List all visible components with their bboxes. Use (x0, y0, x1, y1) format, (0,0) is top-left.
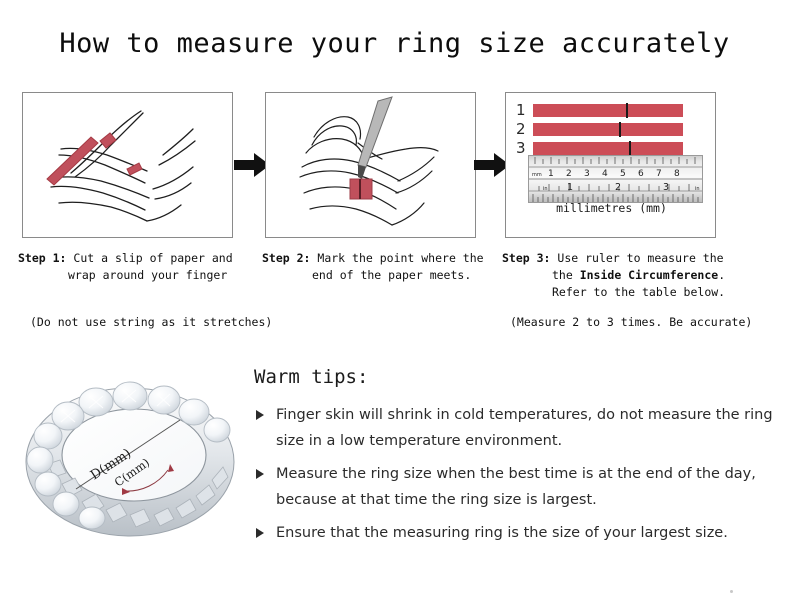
triangle-bullet-icon (256, 410, 264, 420)
step-3-label: Step 3: (502, 251, 550, 265)
step-2-illustration-box (265, 92, 476, 238)
warm-tip-item: Ensure that the measuring ring is the si… (254, 520, 774, 546)
svg-text:8: 8 (674, 169, 680, 179)
strip-number: 2 (516, 120, 531, 138)
step-2-line2: end of the paper meets. (262, 267, 502, 284)
warm-tip-text: Measure the ring size when the best time… (276, 466, 756, 508)
measured-strip-row: 1 (516, 101, 683, 119)
step-1-line2: wrap around your finger (18, 267, 258, 284)
ruler-unit-label: millimetres (mm) (506, 201, 716, 215)
step-1-label: Step 1: (18, 251, 66, 265)
paper-strip-marked (350, 179, 372, 199)
svg-text:6: 6 (638, 169, 644, 179)
hand-marking-paper-drawing (266, 93, 475, 237)
paper-strip (533, 104, 683, 117)
svg-text:4: 4 (602, 169, 608, 179)
step-3-line3: Refer to the table below. (502, 284, 752, 301)
svg-text:in: in (695, 186, 700, 192)
step-3-line2: the Inside Circumference. (502, 267, 752, 284)
step-3-line2-post: . (718, 268, 725, 282)
svg-text:3: 3 (584, 169, 590, 179)
strip-number: 1 (516, 101, 531, 119)
ring-diagram: D(mm) C(mm) (18, 352, 250, 567)
svg-text:1: 1 (548, 169, 554, 179)
measured-strip-row: 2 (516, 120, 683, 138)
step-1-illustration-box (22, 92, 233, 238)
triangle-bullet-icon (256, 528, 264, 538)
step-1-line1: Cut a slip of paper and (73, 251, 232, 265)
step-3-note: (Measure 2 to 3 times. Be accurate) (510, 315, 752, 329)
strip-mark (619, 122, 621, 137)
svg-text:2: 2 (566, 169, 572, 179)
step-2-caption: Step 2: Mark the point where the end of … (262, 250, 502, 284)
strip-mark (629, 141, 631, 156)
step-1-note: (Do not use string as it stretches) (30, 315, 272, 329)
step-2-label: Step 2: (262, 251, 310, 265)
step-1-caption: Step 1: Cut a slip of paper and wrap aro… (18, 250, 258, 284)
pen-icon (358, 97, 392, 179)
page-title: How to measure your ring size accurately (0, 28, 789, 59)
strip-mark (626, 103, 628, 118)
paper-strip (533, 123, 683, 136)
page-artifact-speck (730, 590, 733, 593)
warm-tips-list: Finger skin will shrink in cold temperat… (254, 402, 774, 553)
warm-tip-text: Finger skin will shrink in cold temperat… (276, 407, 773, 449)
svg-text:3: 3 (663, 182, 669, 193)
paper-strip (533, 142, 683, 155)
warm-tip-item: Finger skin will shrink in cold temperat… (254, 402, 774, 454)
svg-text:mm: mm (532, 172, 542, 178)
step-3-line2-pre: the (552, 268, 580, 282)
inside-circumference-emphasis: Inside Circumference (580, 268, 718, 282)
triangle-bullet-icon (256, 469, 264, 479)
svg-text:2: 2 (615, 182, 621, 193)
warm-tip-item: Measure the ring size when the best time… (254, 461, 774, 513)
step-3-caption: Step 3: Use ruler to measure the the Ins… (502, 250, 752, 301)
hand-with-paper-strip-drawing (23, 93, 232, 237)
step-2-line1: Mark the point where the (317, 251, 483, 265)
svg-text:1: 1 (567, 182, 573, 193)
svg-text:in: in (543, 186, 548, 192)
step-3-illustration-box: 1 2 3 (505, 92, 716, 238)
warm-tips-heading: Warm tips: (254, 366, 368, 388)
svg-text:7: 7 (656, 169, 662, 179)
svg-text:5: 5 (620, 169, 626, 179)
warm-tip-text: Ensure that the measuring ring is the si… (276, 525, 728, 541)
ruler-graphic: 12 34 56 78 mm 123 in in (528, 155, 703, 203)
step-3-line1: Use ruler to measure the (557, 251, 723, 265)
ring-size-guide-page: How to measure your ring size accurately (0, 0, 789, 606)
